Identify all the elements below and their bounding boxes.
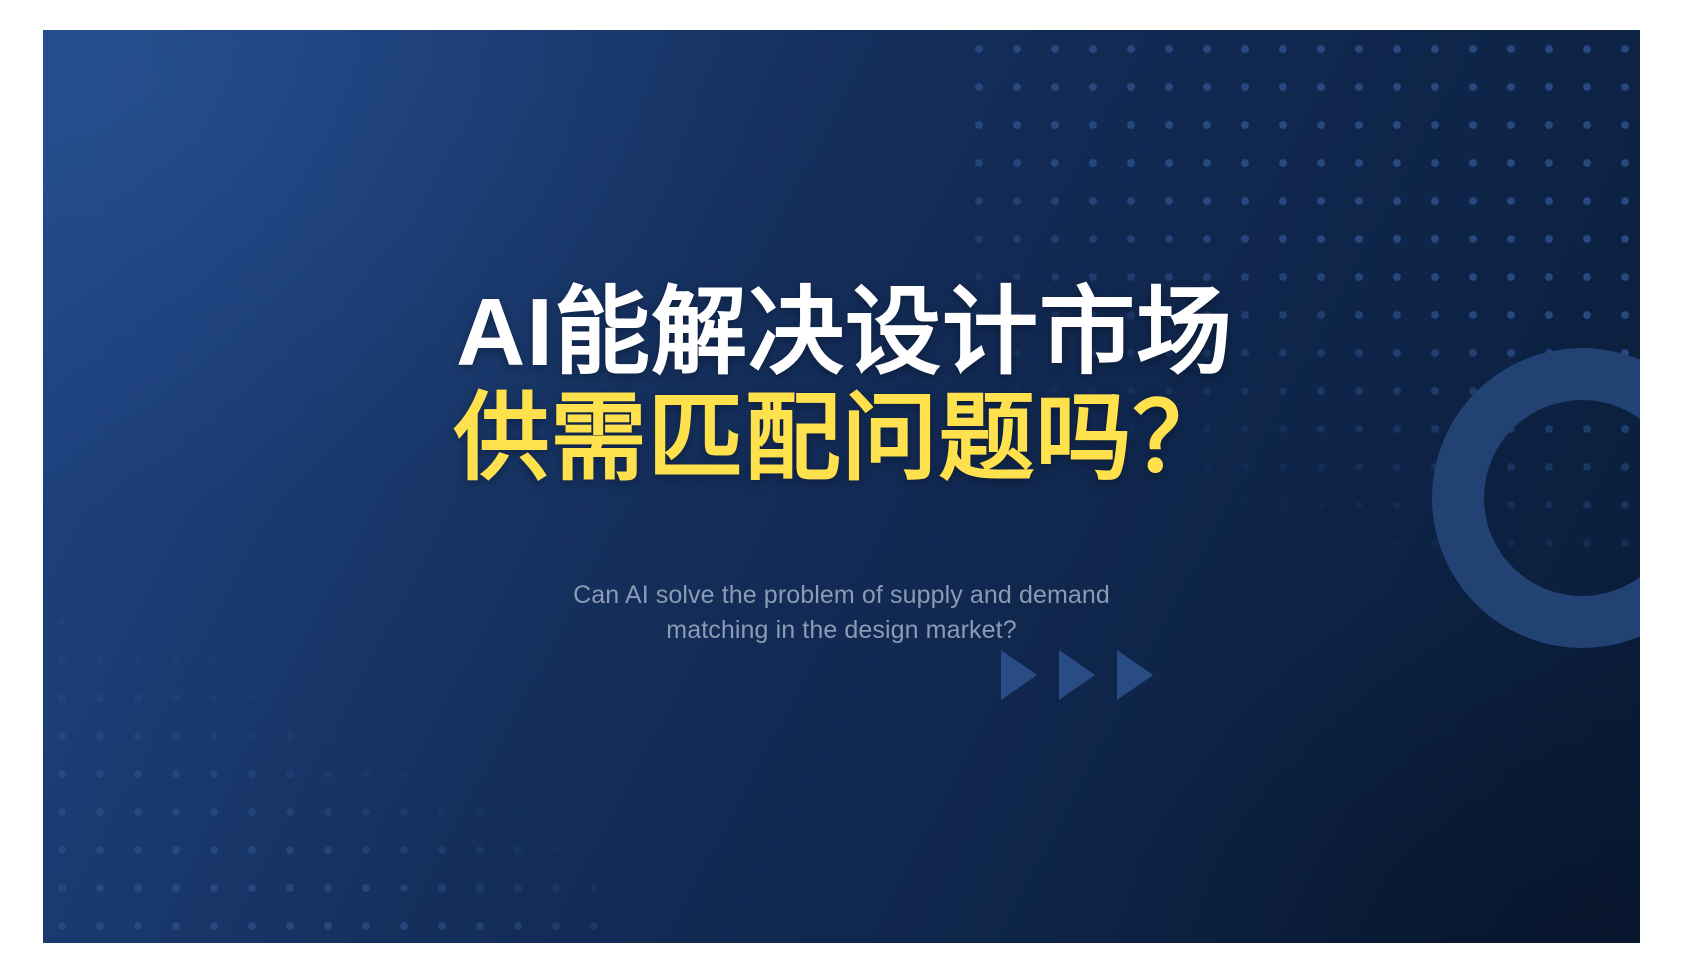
subtitle-block: Can AI solve the problem of supply and d… [43, 578, 1640, 647]
triangle-right-icon [1001, 650, 1037, 700]
arrow-row [1001, 650, 1153, 700]
title-line-accent: 供需匹配问题吗？ [43, 388, 1640, 490]
subtitle-line-1: Can AI solve the problem of supply and d… [43, 578, 1640, 613]
triangle-right-icon [1117, 650, 1153, 700]
dot-grid-bottom-left-icon [43, 603, 603, 943]
title-line-primary: AI能解决设计市场 [43, 282, 1640, 384]
subtitle-line-2: matching in the design market? [43, 613, 1640, 648]
triangle-right-icon [1059, 650, 1095, 700]
headline-block: AI能解决设计市场 供需匹配问题吗？ [43, 282, 1640, 490]
slide-frame: AI能解决设计市场 供需匹配问题吗？ Can AI solve the prob… [43, 30, 1640, 943]
